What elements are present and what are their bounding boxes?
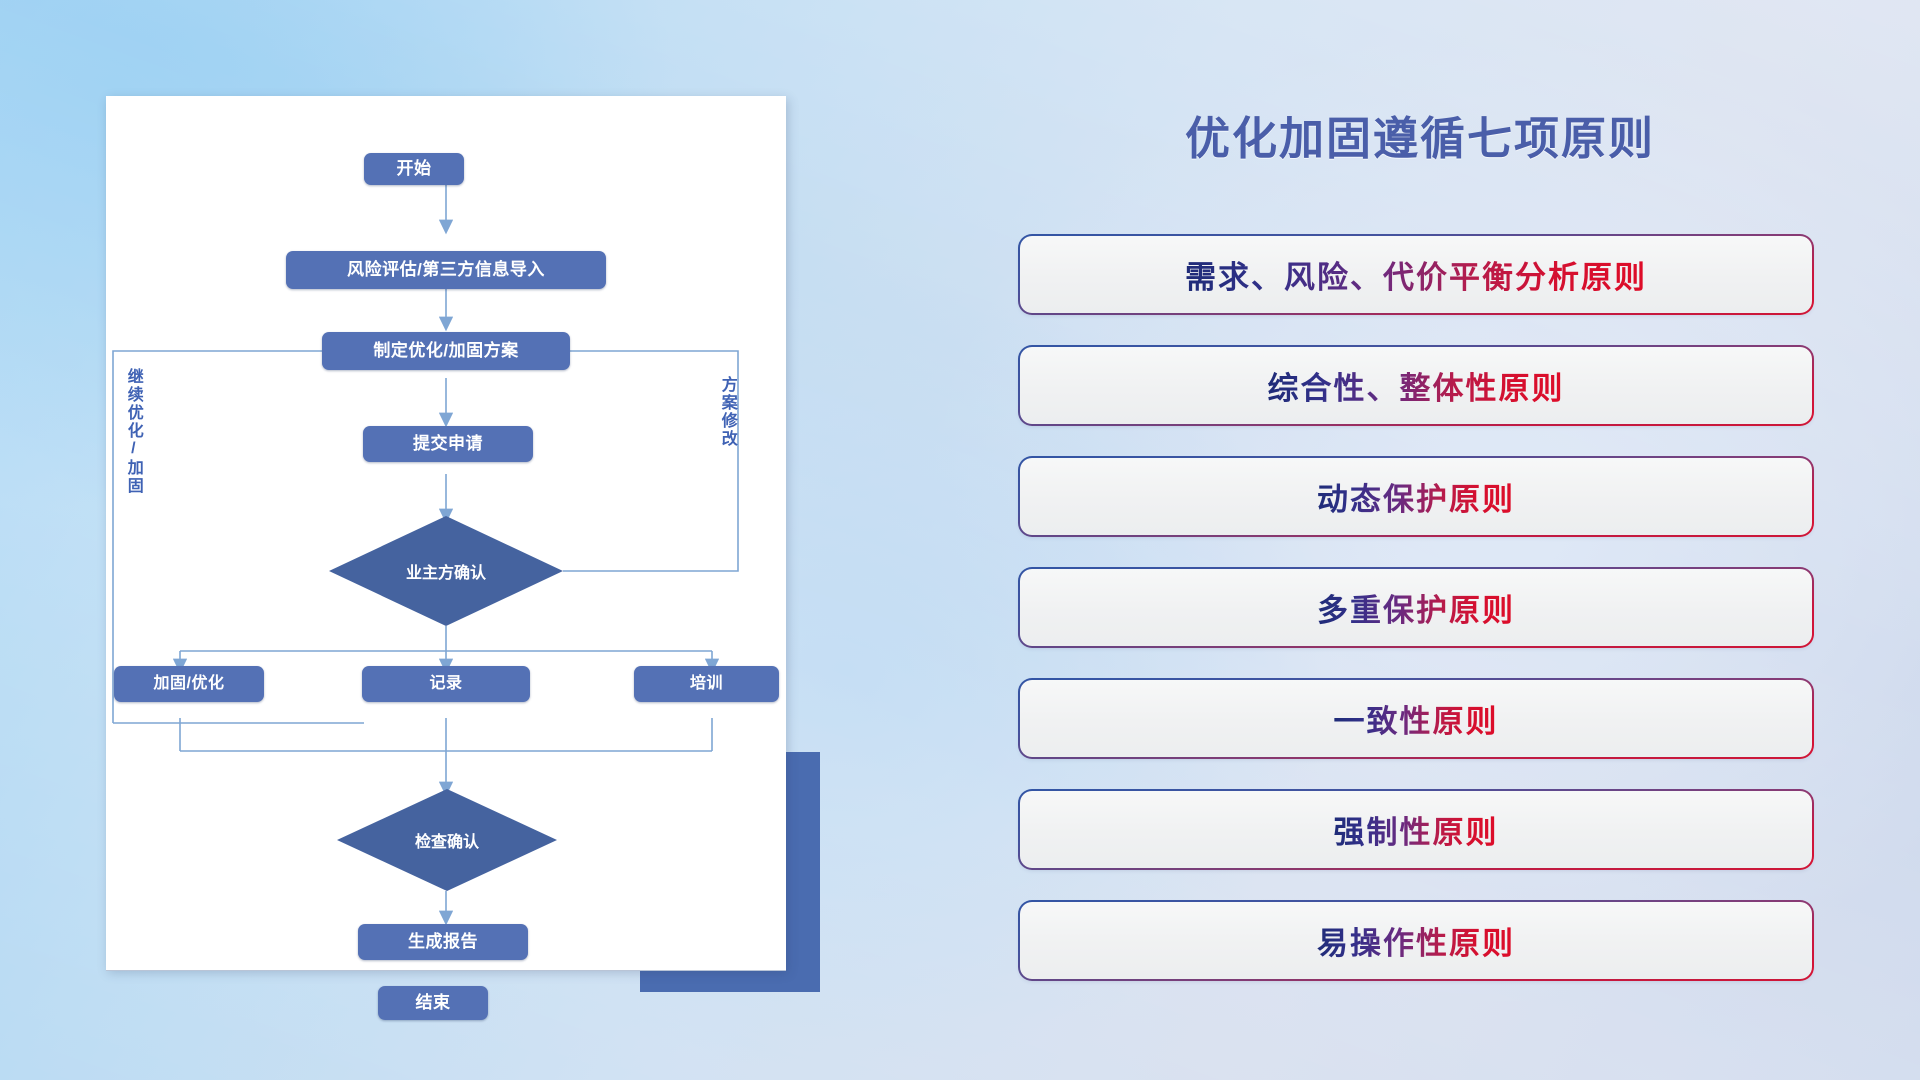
principle-card-2-label: 综合性、整体性原则 [1268,363,1565,408]
flow-node-plan[interactable]: 制定优化/加固方案 [322,332,570,370]
principles-panel: 优化加固遵循七项原则 需求、风险、代价平衡分析原则 综合性、整体性原则 动态保护… [1020,96,1820,996]
flow-node-risk-assessment[interactable]: 风险评估/第三方信息导入 [286,251,606,289]
flow-decision-owner-confirm-label: 业主方确认 [406,559,486,583]
flow-node-submit-application[interactable]: 提交申请 [363,426,533,462]
flow-decision-check-confirm[interactable]: 检查确认 [337,789,557,891]
principle-card-4-label: 多重保护原则 [1317,585,1515,630]
principle-card-5-label: 一致性原则 [1334,696,1499,741]
flow-decision-owner-confirm[interactable]: 业主方确认 [329,516,563,626]
principle-card-6[interactable]: 强制性原则 [1020,791,1812,868]
flowchart: 开始 风险评估/第三方信息导入 制定优化/加固方案 提交申请 业主方确认 加固/… [106,96,786,970]
flow-node-reinforce-optimize[interactable]: 加固/优化 [114,666,264,702]
flow-node-generate-report[interactable]: 生成报告 [358,924,528,960]
principle-card-4[interactable]: 多重保护原则 [1020,569,1812,646]
flow-edge-label-plan-revision: 方案修改 [718,376,735,506]
principle-card-7-label: 易操作性原则 [1317,918,1515,963]
principle-card-2[interactable]: 综合性、整体性原则 [1020,347,1812,424]
principle-card-3-label: 动态保护原则 [1317,474,1515,519]
principle-card-5[interactable]: 一致性原则 [1020,680,1812,757]
principle-card-3[interactable]: 动态保护原则 [1020,458,1812,535]
principle-card-1[interactable]: 需求、风险、代价平衡分析原则 [1020,236,1812,313]
flow-node-training[interactable]: 培训 [634,666,779,702]
flowchart-panel: 开始 风险评估/第三方信息导入 制定优化/加固方案 提交申请 业主方确认 加固/… [106,96,786,970]
principle-card-6-label: 强制性原则 [1334,807,1499,852]
principle-card-7[interactable]: 易操作性原则 [1020,902,1812,979]
principle-card-1-label: 需求、风险、代价平衡分析原则 [1185,252,1647,297]
flow-decision-check-confirm-label: 检查确认 [415,828,479,852]
flow-node-start[interactable]: 开始 [364,153,464,185]
flow-node-end[interactable]: 结束 [378,986,488,1020]
flow-edge-label-continue-optimize: 继续优化/加固 [124,368,141,548]
page-title: 优化加固遵循七项原则 [1020,102,1820,167]
flow-node-record[interactable]: 记录 [362,666,530,702]
